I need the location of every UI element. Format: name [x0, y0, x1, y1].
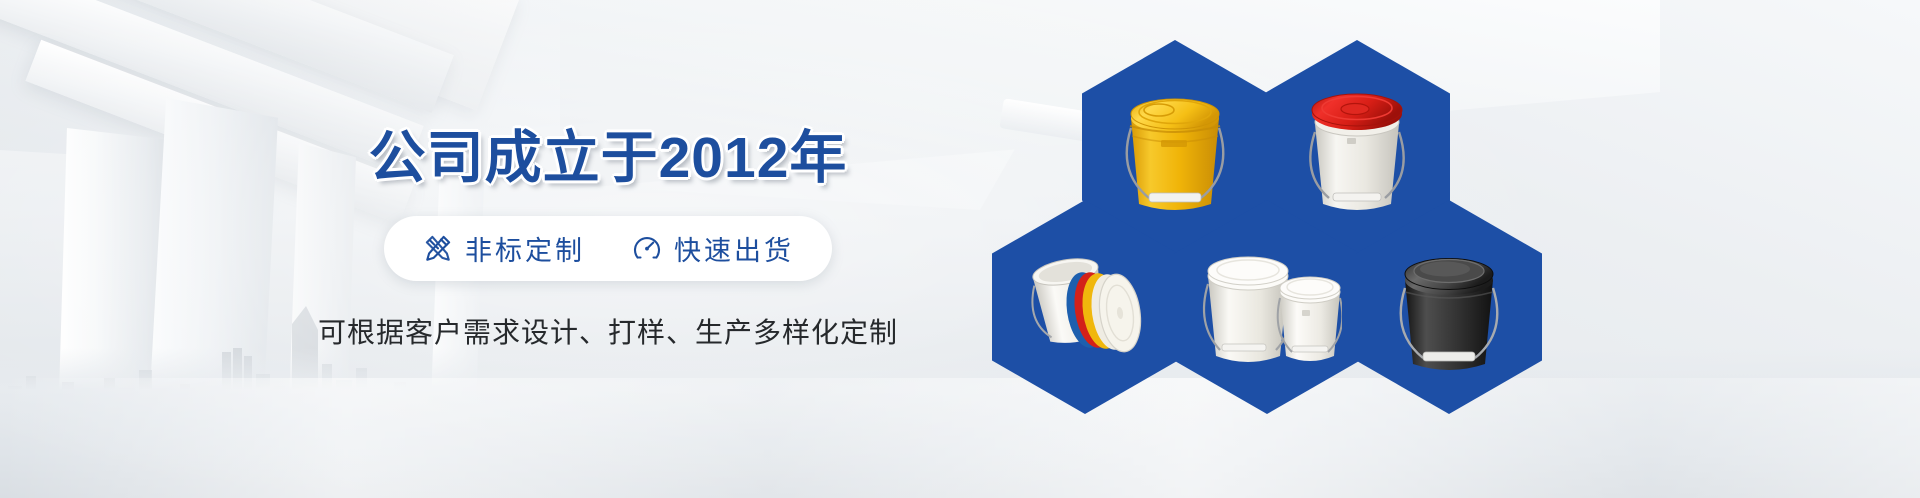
product-hex-two-white-buckets[interactable] — [1174, 200, 1360, 414]
product-hex-black-bucket[interactable] — [1356, 200, 1542, 414]
product-hexagon-cluster — [1012, 32, 1712, 468]
feature-pill: 非标定制 快速出货 — [384, 216, 832, 281]
product-image-two-white-buckets — [1174, 200, 1360, 414]
promo-banner: 公司成立于2012年 非标定制 — [0, 0, 1920, 498]
feature-item-fast-shipping[interactable]: 快速出货 — [631, 229, 794, 268]
page-title: 公司成立于2012年 — [288, 128, 928, 190]
page-subtitle: 可根据客户需求设计、打样、生产多样化定制 — [288, 311, 928, 351]
product-hex-multicolor-lids[interactable] — [992, 200, 1178, 414]
feature-item-custom[interactable]: 非标定制 — [422, 229, 585, 268]
speedometer-icon — [631, 232, 663, 264]
feature-label: 快速出货 — [674, 229, 794, 268]
feature-label: 非标定制 — [465, 229, 585, 268]
headline-block: 公司成立于2012年 非标定制 — [288, 128, 928, 351]
pen-ruler-icon — [422, 232, 454, 264]
product-image-multicolor-lids — [992, 200, 1178, 414]
product-image-black-bucket — [1356, 200, 1542, 414]
